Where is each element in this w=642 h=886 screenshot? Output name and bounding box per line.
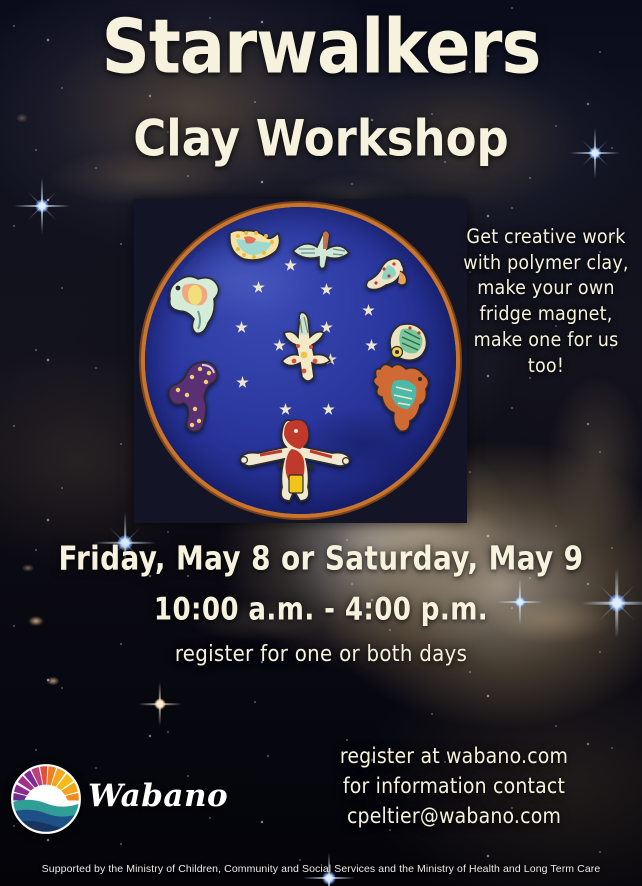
page-subtitle: Clay Workshop — [0, 113, 642, 165]
clay-figure-fish-creature — [164, 271, 226, 339]
footer-funding-note: Supported by the Ministry of Children, C… — [0, 864, 642, 875]
page-title: Starwalkers — [0, 8, 642, 87]
clay-figure-star-person — [274, 311, 334, 387]
clay-figure-human — [234, 417, 358, 505]
clay-workshop-photo — [134, 199, 467, 523]
clay-figure-leaping-animal — [362, 257, 412, 297]
workshop-times: 10:00 a.m. - 4:00 p.m. — [0, 593, 642, 625]
register-url-line: register at wabano.com — [304, 742, 604, 772]
clay-figure-horse — [370, 359, 436, 435]
wabano-sunrise-icon — [10, 763, 82, 835]
wabano-logo: Wabano — [8, 760, 208, 838]
wabano-wordmark: Wabano — [88, 778, 228, 814]
clay-figure-bird — [289, 227, 353, 271]
poster-canvas: Starwalkers Clay Workshop — [0, 0, 642, 886]
workshop-dates: Friday, May 8 or Saturday, May 9 — [0, 542, 642, 576]
clay-figure-canoe — [226, 227, 282, 263]
contact-block: register at wabano.com for information c… — [304, 742, 604, 831]
workshop-blurb: Get creative work with polymer clay, mak… — [458, 224, 634, 378]
clay-figure-purple-animal — [162, 359, 228, 437]
register-note: register for one or both days — [0, 643, 642, 666]
information-line: for information contact — [304, 772, 604, 802]
contact-email-line: cpeltier@wabano.com — [304, 802, 604, 832]
